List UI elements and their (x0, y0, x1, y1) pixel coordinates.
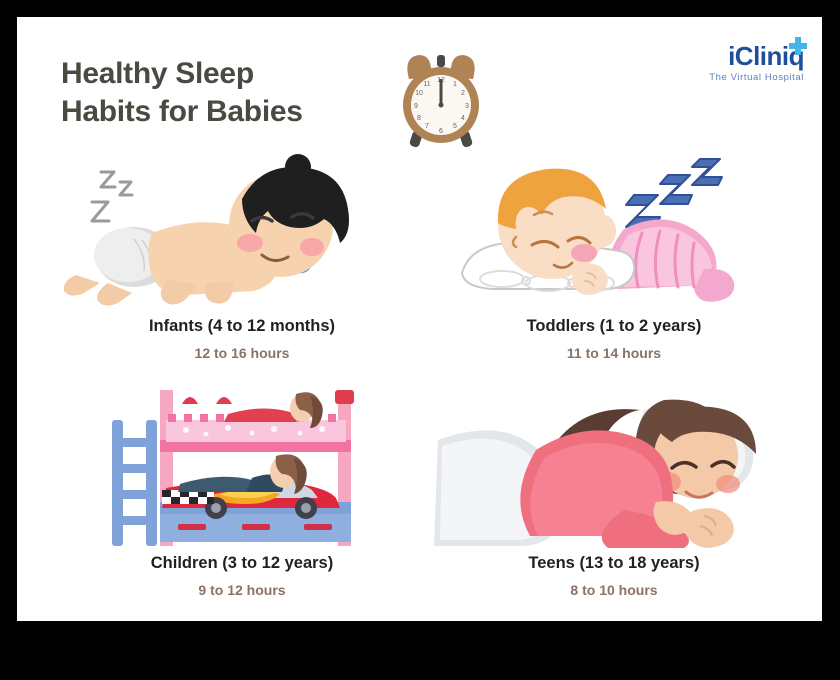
svg-text:7: 7 (425, 123, 429, 130)
medical-cross-icon (789, 37, 807, 55)
sleep-cards-grid: Infants (4 to 12 months) 12 to 16 hours (34, 147, 839, 637)
iclinic-logo[interactable]: iCliniq The Virtual Hospital (674, 43, 804, 97)
svg-text:9: 9 (414, 103, 418, 110)
page-title-line1: Healthy Sleep (61, 55, 401, 93)
card-hours: 8 to 10 hours (428, 582, 800, 598)
card-label: Toddlers (1 to 2 years) (428, 317, 800, 336)
svg-text:3: 3 (465, 103, 469, 110)
svg-text:1: 1 (453, 81, 457, 88)
sleeping-teen-girl-illustration (428, 384, 800, 549)
svg-text:6: 6 (439, 128, 443, 135)
sleep-card-children: Children (3 to 12 years) 9 to 12 hours (56, 384, 428, 616)
logo-wordmark: iCliniq (728, 43, 804, 69)
sleeping-baby-on-blue-pillow-illustration (56, 147, 428, 312)
svg-text:8: 8 (417, 115, 421, 122)
card-label: Children (3 to 12 years) (56, 554, 428, 573)
logo-tagline: The Virtual Hospital (674, 72, 804, 83)
zzz-marks (92, 172, 132, 221)
svg-text:5: 5 (453, 123, 457, 130)
sleep-card-teens: Teens (13 to 18 years) 8 to 10 hours (428, 384, 800, 616)
card-hours: 11 to 14 hours (428, 345, 800, 361)
page-title-line2: Habits for Babies (61, 93, 401, 131)
sleeping-toddler-pink-blanket-illustration (428, 147, 800, 312)
card-hours: 12 to 16 hours (56, 345, 428, 361)
svg-text:10: 10 (415, 90, 423, 97)
sleep-card-infants: Infants (4 to 12 months) 12 to 16 hours (56, 147, 428, 379)
infographic-card: Healthy Sleep Habits for Babies 12 3 6 9… (17, 17, 822, 621)
zzz-marks (626, 159, 722, 227)
card-label: Infants (4 to 12 months) (56, 317, 428, 336)
page-title: Healthy Sleep Habits for Babies (61, 55, 401, 132)
bunk-bed-children-illustration (56, 384, 428, 549)
poster-frame: Healthy Sleep Habits for Babies 12 3 6 9… (0, 0, 840, 680)
svg-text:2: 2 (461, 90, 465, 97)
sleep-card-toddlers: Toddlers (1 to 2 years) 11 to 14 hours (428, 147, 800, 379)
alarm-clock-icon: 12 3 6 9 1 2 4 5 7 8 10 11 (389, 49, 493, 153)
card-label: Teens (13 to 18 years) (428, 554, 800, 573)
svg-text:4: 4 (461, 115, 465, 122)
svg-text:11: 11 (423, 81, 430, 88)
card-hours: 9 to 12 hours (56, 582, 428, 598)
